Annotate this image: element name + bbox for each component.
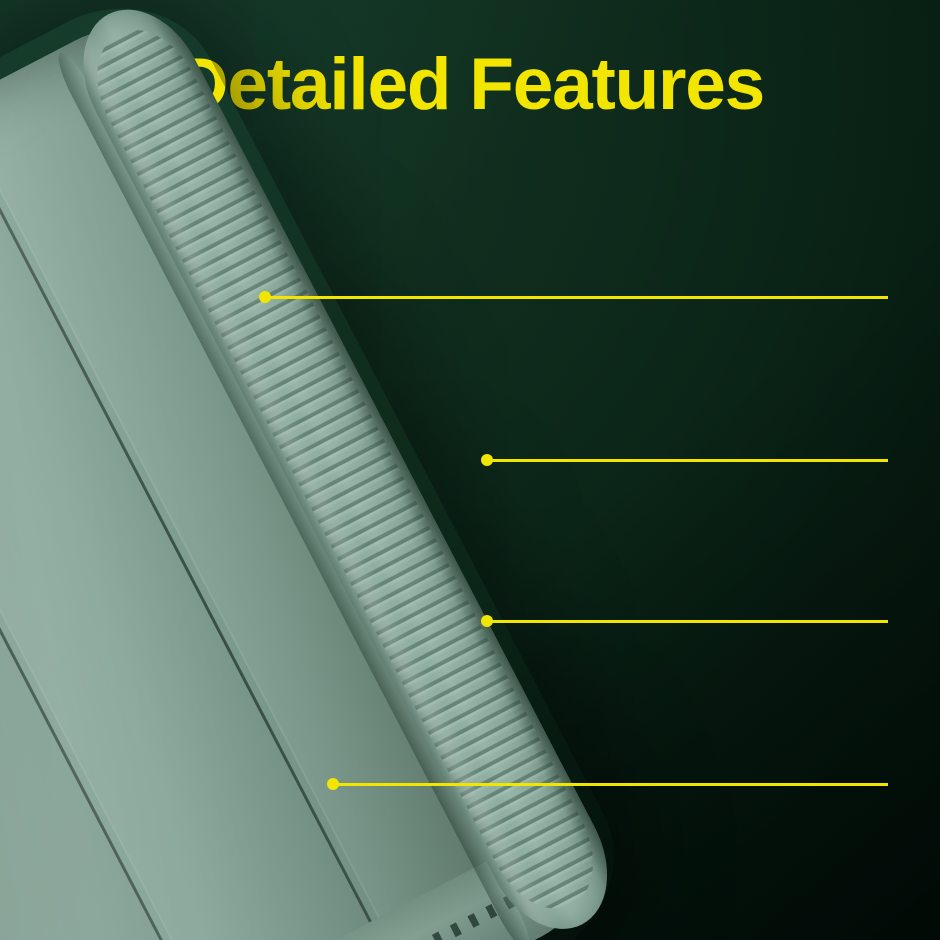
callout-leader-line	[487, 459, 888, 462]
callout-dot-icon	[481, 615, 493, 627]
callout-dot-icon	[259, 291, 271, 303]
callout-leader-line	[265, 296, 888, 299]
infographic-canvas: Detailed Features	[0, 0, 940, 940]
callout-leader-line	[487, 620, 888, 623]
callout-leader-line	[333, 783, 888, 786]
callout-dot-icon	[327, 778, 339, 790]
callout-dot-icon	[481, 454, 493, 466]
